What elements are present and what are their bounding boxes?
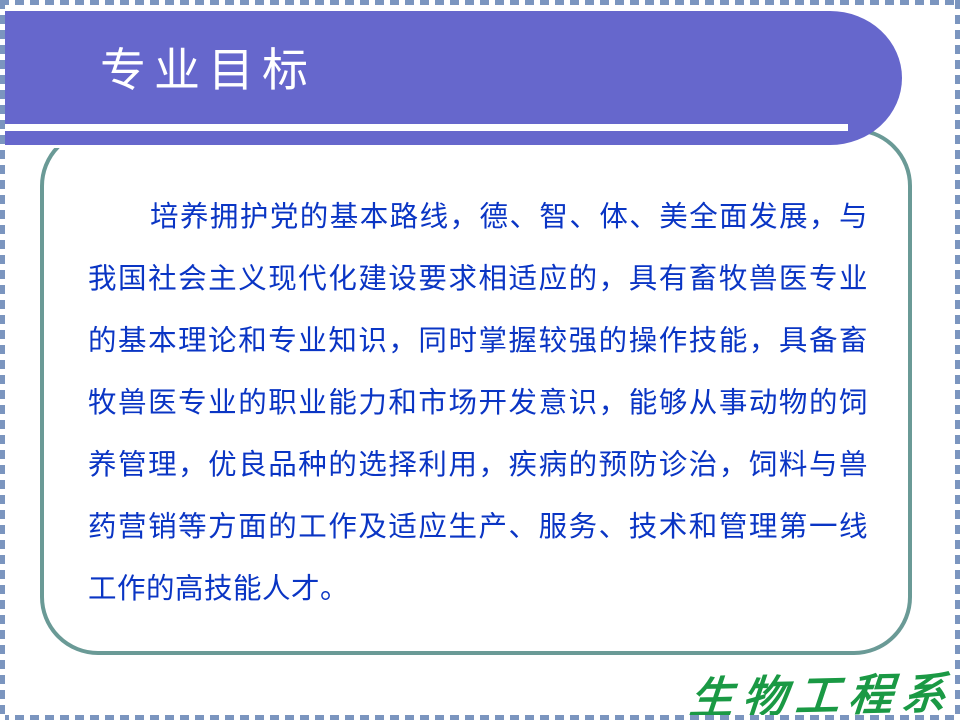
slide-border-top [0,0,960,5]
slide-border-bottom [0,715,960,720]
title-banner-rule [0,124,848,131]
slide-border-left [0,0,5,720]
presentation-slide: 专业目标 培养拥护党的基本路线，德、智、体、美全面发展，与我国社会主义现代化建设… [0,0,960,720]
slide-border-right [955,0,960,720]
department-logo: 生物工程系 [687,657,958,720]
page-title: 专业目标 [100,36,316,104]
body-paragraph: 培养拥护党的基本路线，德、智、体、美全面发展，与我国社会主义现代化建设要求相适应… [88,186,868,620]
